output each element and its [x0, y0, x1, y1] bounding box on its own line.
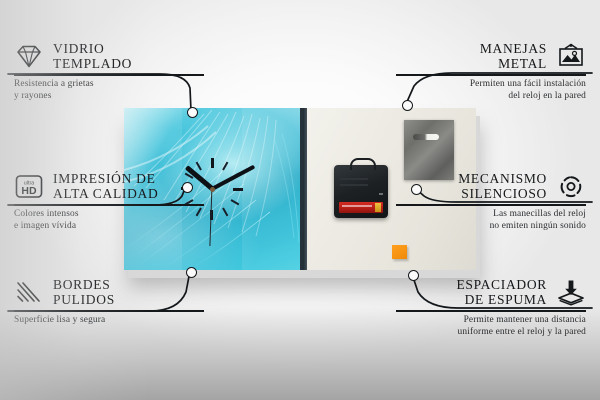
feature-header: VIDRIO TEMPLADO	[14, 42, 204, 74]
hanger-slot	[413, 134, 439, 140]
feature-sub-line1: Permite mantener una distancia	[396, 315, 586, 327]
battery	[339, 202, 383, 213]
movement-detail	[379, 193, 383, 195]
feature-vidrio-templado: VIDRIO TEMPLADO Resistencia a grietas y …	[14, 42, 204, 102]
metal-hanger-plate	[404, 120, 454, 180]
feature-sub-line1: Superficie lisa y segura	[14, 315, 204, 327]
feature-sub-line1: Las manecillas del reloj	[396, 209, 586, 221]
feature-title-line1: BORDES	[53, 278, 115, 293]
movement-detail	[340, 178, 368, 180]
feature-title-line2: DE ESPUMA	[456, 293, 547, 308]
movement-detail	[340, 184, 368, 186]
battery-label	[342, 205, 372, 207]
feature-sub-line1: Permiten una fácil instalación	[396, 79, 586, 91]
clock-center-pin	[210, 187, 215, 192]
gear-icon	[556, 173, 586, 200]
feature-title-line2: PULIDOS	[53, 293, 115, 308]
feature-subtitle: Resistencia a grietas y rayones	[14, 76, 204, 103]
feature-subtitle: Colores intensos e imagen vívida	[14, 206, 204, 233]
feature-subtitle: Permiten una fácil instalación del reloj…	[396, 76, 586, 103]
feature-sub-line2: no emiten ningún sonido	[396, 221, 586, 233]
feature-title-line2: METAL	[480, 57, 547, 72]
feature-mecanismo-silencioso: MECANISMO SILENCIOSO Las manecillas del …	[396, 172, 586, 232]
connector-marker	[187, 107, 198, 118]
ultra-hd-icon: ultra HD	[14, 173, 44, 200]
feature-sub-line1: Resistencia a grietas	[14, 79, 204, 91]
feature-title: IMPRESIÓN DE ALTA CALIDAD	[53, 172, 158, 201]
feature-bordes-pulidos: BORDES PULIDOS Superficie lisa y segura	[14, 278, 204, 327]
feature-header: ultra HD IMPRESIÓN DE ALTA CALIDAD	[14, 172, 204, 204]
feature-title-line2: SILENCIOSO	[458, 187, 547, 202]
feature-title-line1: MECANISMO	[458, 172, 547, 187]
ultra-hd-big-label: HD	[21, 185, 37, 197]
feature-title-line1: VIDRIO	[53, 42, 132, 57]
feature-subtitle: Permite mantener una distancia uniforme …	[396, 312, 586, 339]
foam-spacer-icon	[556, 279, 586, 306]
feature-sub-line1: Colores intensos	[14, 209, 204, 221]
feature-sub-line2: uniforme entre el reloj y la pared	[396, 327, 586, 339]
feature-title-line1: ESPACIADOR	[456, 278, 547, 293]
connector-marker	[186, 267, 197, 278]
clock-movement	[334, 165, 388, 218]
feature-espaciador-espuma: ESPACIADOR DE ESPUMA Permite mantener un…	[396, 278, 586, 338]
feature-sub-line2: e imagen vívida	[14, 221, 204, 233]
picture-hanger-icon	[556, 43, 586, 70]
feature-title: VIDRIO TEMPLADO	[53, 42, 132, 71]
feature-title: ESPACIADOR DE ESPUMA	[456, 278, 547, 307]
feature-title: MANEJAS METAL	[480, 42, 547, 71]
panel-edge	[303, 108, 307, 270]
movement-loop	[350, 158, 376, 170]
feature-title: BORDES PULIDOS	[53, 278, 115, 307]
feature-title: MECANISMO SILENCIOSO	[458, 172, 547, 201]
feature-title-line1: MANEJAS	[480, 42, 547, 57]
foam-spacer	[392, 245, 407, 259]
feature-impresion-alta-calidad: ultra HD IMPRESIÓN DE ALTA CALIDAD Color…	[14, 172, 204, 232]
feature-title-line1: IMPRESIÓN DE	[53, 172, 158, 187]
feature-header: MANEJAS METAL	[396, 42, 586, 74]
feature-manejas-metal: MANEJAS METAL Permiten una fácil instala…	[396, 42, 586, 102]
feature-header: ESPACIADOR DE ESPUMA	[396, 278, 586, 310]
feature-header: MECANISMO SILENCIOSO	[396, 172, 586, 204]
feature-subtitle: Superficie lisa y segura	[14, 312, 204, 327]
feature-sub-line2: y rayones	[14, 91, 204, 103]
polished-edges-icon	[14, 279, 44, 306]
feature-header: BORDES PULIDOS	[14, 278, 204, 310]
infographic-canvas: VIDRIO TEMPLADO Resistencia a grietas y …	[0, 0, 600, 400]
feature-title-line2: TEMPLADO	[53, 57, 132, 72]
diamond-icon	[14, 43, 44, 70]
feature-sub-line2: del reloj en la pared	[396, 91, 586, 103]
feature-title-line2: ALTA CALIDAD	[53, 187, 158, 202]
feature-subtitle: Las manecillas del reloj no emiten ningú…	[396, 206, 586, 233]
